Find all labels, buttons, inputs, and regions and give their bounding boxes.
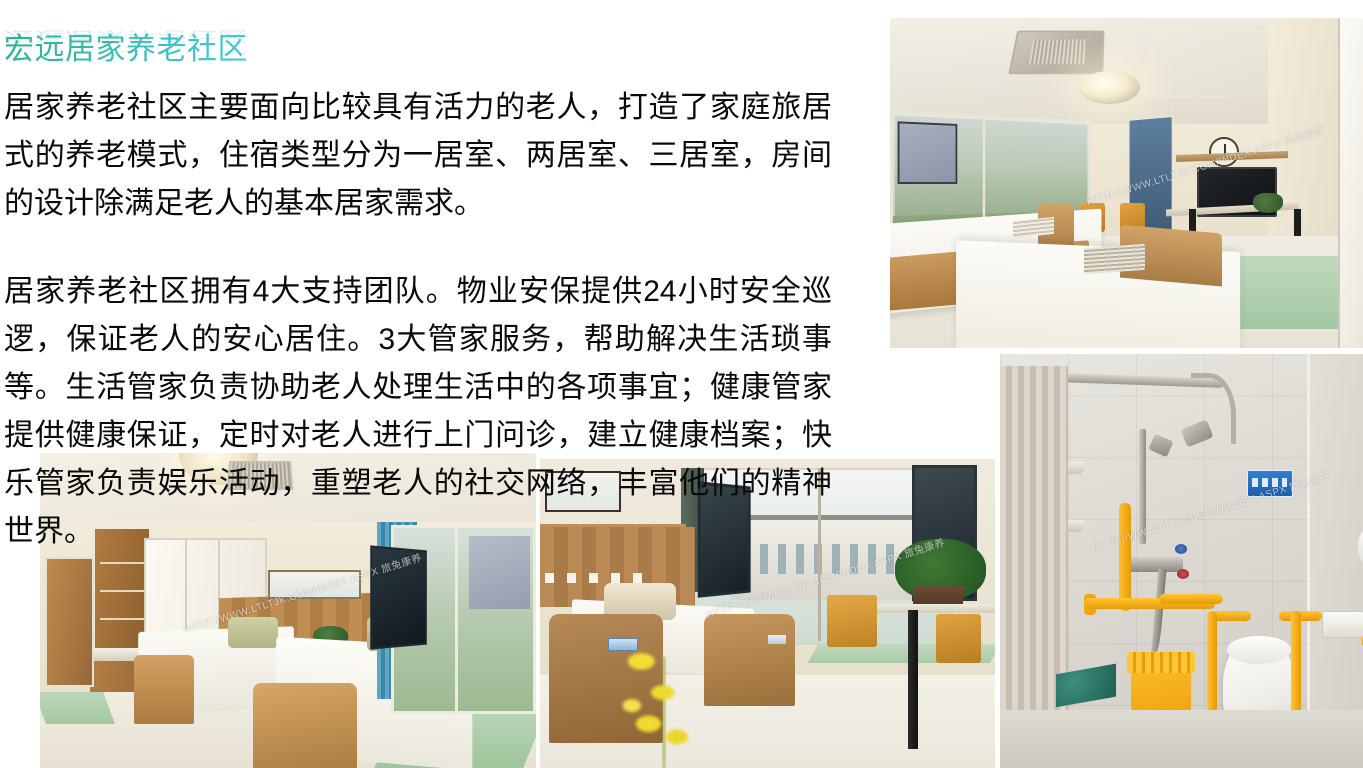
floor xyxy=(1000,710,1363,768)
bed-back-headboard xyxy=(228,617,278,649)
bed-label-tag-back xyxy=(768,635,786,644)
floor-green-band-left xyxy=(40,692,115,724)
dining-table xyxy=(877,604,995,613)
paragraph-services: 居家养老社区拥有4大支持团队。物业安保提供24小时安全巡逻，保证老人的安心居住。… xyxy=(4,268,832,556)
thermostatic-mixer xyxy=(1127,557,1183,572)
room-door xyxy=(45,557,94,687)
wall-picture-frame xyxy=(268,570,361,599)
toilet-lid xyxy=(1227,636,1291,665)
paragraph-overview: 居家养老社区主要面向比较具有活力的老人，打造了家庭旅居式的养老模式，住宿类型分为… xyxy=(4,84,832,228)
air-conditioner-vent-icon xyxy=(1008,31,1104,75)
bed-back-footboard xyxy=(134,655,194,724)
bathroom-scene: HTTP://WWW.LTLTJK.COM/INDEX.ASPX 旅兔康养 xyxy=(1000,354,1363,768)
accessibility-sign-icon xyxy=(1247,470,1293,497)
photo-room-double[interactable]: HTTP://WWW.LTLTJK.COM/INDEX.ASPX 旅兔康养 xyxy=(890,18,1363,348)
ceiling-lamp-icon xyxy=(1079,71,1140,104)
toilet-cistern xyxy=(1322,611,1363,638)
page-title: 宏远居家养老社区 xyxy=(4,31,248,69)
open-window-sash xyxy=(371,545,427,649)
foreground-yellow-flowers xyxy=(608,638,726,768)
grab-bar-vertical xyxy=(1119,503,1131,611)
toilet-rail-right xyxy=(1291,611,1301,723)
room-double-scene: HTTP://WWW.LTLTJK.COM/INDEX.ASPX 旅兔康养 xyxy=(890,18,1363,348)
shower-stool-seat xyxy=(1127,652,1195,673)
toilet-rail-left xyxy=(1207,611,1217,723)
armchair-front xyxy=(936,614,982,663)
shower-curtain xyxy=(1000,366,1068,768)
folded-towels-right xyxy=(1084,244,1145,275)
potted-plant-icon xyxy=(1253,193,1284,213)
wall-switch-row-icon xyxy=(545,573,654,582)
armchair-back xyxy=(827,595,877,648)
entry-door xyxy=(1338,18,1363,348)
shower-riser-rail xyxy=(1139,429,1146,545)
slide-canvas: 宏远居家养老社区 宏远居家养老社区 居家养老社区主要面向比较具有活力的老人，打造… xyxy=(0,0,1363,763)
table-leg xyxy=(908,610,918,749)
right-wall-panel xyxy=(1307,354,1363,768)
grab-bar-horizontal-secondary xyxy=(1159,594,1223,604)
photo-bathroom[interactable]: HTTP://WWW.LTLTJK.COM/INDEX.ASPX 旅兔康养 xyxy=(1000,354,1363,768)
outside-building xyxy=(897,122,957,184)
body-copy: 居家养老社区主要面向比较具有活力的老人，打造了家庭旅居式的养老模式，住宿类型分为… xyxy=(4,84,832,556)
bed-front-footboard xyxy=(253,683,357,768)
